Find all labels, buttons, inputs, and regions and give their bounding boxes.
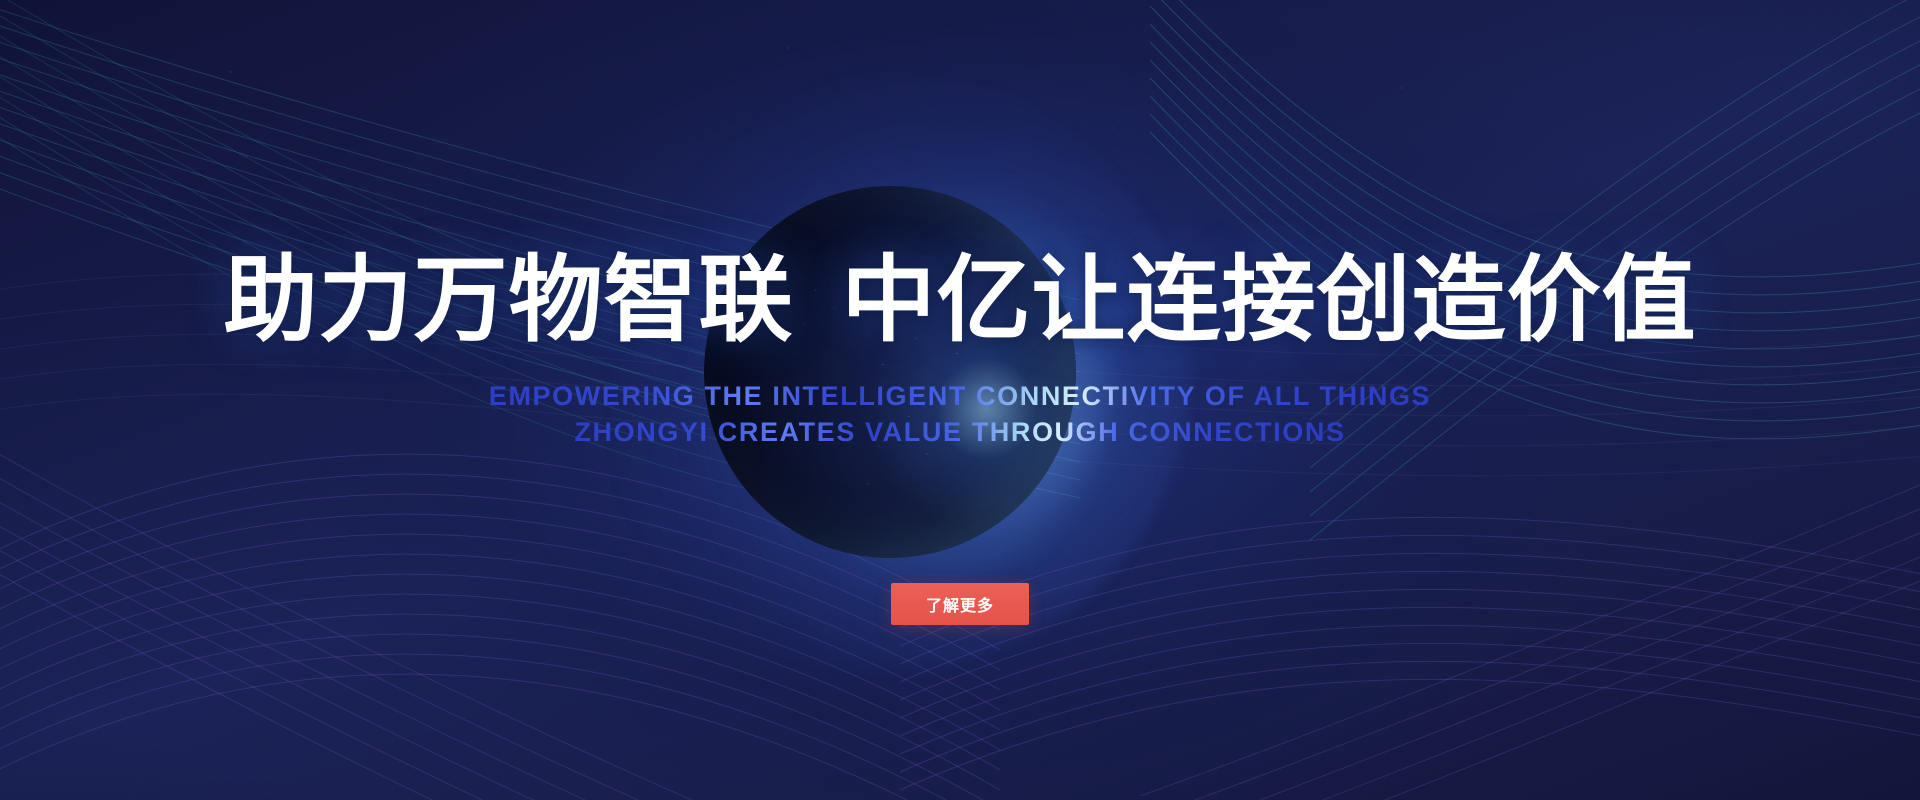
hero-banner: 助力万物智联中亿让连接创造价值 EMPOWERING THE INTELLIGE… xyxy=(0,0,1920,800)
subtitle-line-2: ZHONGYI CREATES VALUE THROUGH CONNECTION… xyxy=(574,419,1345,446)
headline-part-2: 中亿让连接创造价值 xyxy=(842,247,1697,352)
headline-part-1: 助力万物智联 xyxy=(223,247,793,352)
hero-content: 助力万物智联中亿让连接创造价值 EMPOWERING THE INTELLIGE… xyxy=(0,0,1920,800)
subtitle-line-1: EMPOWERING THE INTELLIGENT CONNECTIVITY … xyxy=(489,383,1431,410)
page-title: 助力万物智联中亿让连接创造价值 xyxy=(223,253,1696,347)
learn-more-button[interactable]: 了解更多 xyxy=(891,583,1029,625)
